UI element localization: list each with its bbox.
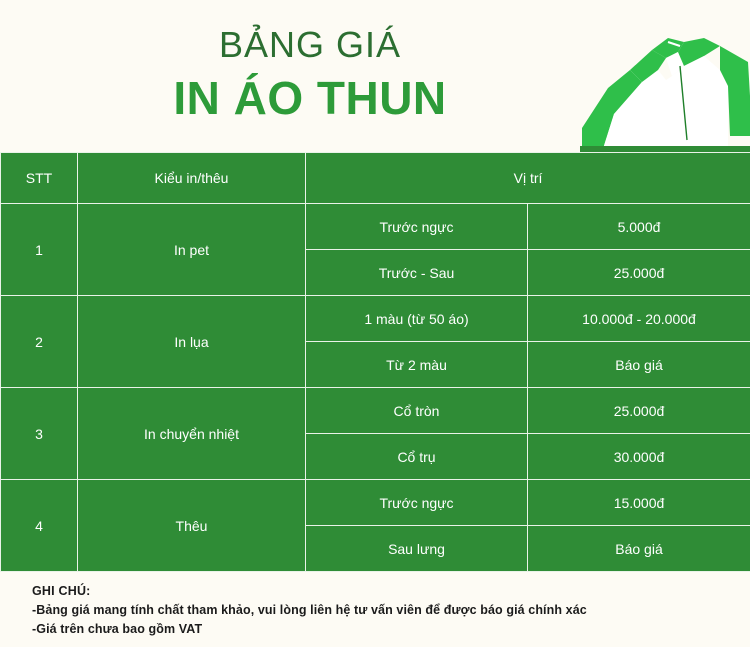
cell-position: Trước ngực — [306, 480, 528, 526]
cell-position: Trước ngực — [306, 204, 528, 250]
cell-position: Sau lưng — [306, 526, 528, 572]
cell-stt: 3 — [1, 388, 78, 480]
table-body: 1 In pet Trước ngực 5.000đ Trước - Sau 2… — [1, 204, 750, 572]
table-row: 2 In lụa 1 màu (từ 50 áo) 10.000đ - 20.0… — [1, 296, 750, 342]
cell-print-type: In lụa — [78, 296, 306, 388]
notes-line-1: -Bảng giá mang tính chất tham khảo, vui … — [32, 601, 750, 620]
cell-print-type: In chuyển nhiệt — [78, 388, 306, 480]
cell-price: 25.000đ — [528, 388, 750, 434]
table-row: 3 In chuyển nhiệt Cổ tròn 25.000đ — [1, 388, 750, 434]
column-header-kieu: Kiểu in/thêu — [78, 153, 306, 204]
price-table: STT Kiểu in/thêu Vị trí 1 In pet Trước n… — [0, 152, 750, 572]
cell-print-type: Thêu — [78, 480, 306, 572]
cell-price: 5.000đ — [528, 204, 750, 250]
notes-line-2: -Giá trên chưa bao gồm VAT — [32, 620, 750, 639]
notes-title: GHI CHÚ: — [32, 582, 750, 601]
cell-price: 10.000đ - 20.000đ — [528, 296, 750, 342]
table-row: 4 Thêu Trước ngực 15.000đ — [1, 480, 750, 526]
cell-print-type: In pet — [78, 204, 306, 296]
cell-position: Cổ tròn — [306, 388, 528, 434]
title-block: BẢNG GIÁ IN ÁO THUN — [0, 24, 620, 127]
cell-stt: 2 — [1, 296, 78, 388]
table-header: STT Kiểu in/thêu Vị trí — [1, 153, 750, 204]
polo-shirt-icon — [580, 36, 750, 152]
column-header-stt: STT — [1, 153, 78, 204]
cell-stt: 4 — [1, 480, 78, 572]
cell-price: Báo giá — [528, 342, 750, 388]
page-subtitle: IN ÁO THUN — [0, 71, 620, 126]
cell-position: Từ 2 màu — [306, 342, 528, 388]
cell-position: Cổ trụ — [306, 434, 528, 480]
table-header-row: STT Kiểu in/thêu Vị trí — [1, 153, 750, 204]
table-row: 1 In pet Trước ngực 5.000đ — [1, 204, 750, 250]
page-header: BẢNG GIÁ IN ÁO THUN — [0, 0, 750, 152]
cell-price: 25.000đ — [528, 250, 750, 296]
cell-price: Báo giá — [528, 526, 750, 572]
cell-position: Trước - Sau — [306, 250, 528, 296]
column-header-vitri: Vị trí — [306, 153, 750, 204]
page-title: BẢNG GIÁ — [0, 24, 620, 65]
cell-price: 15.000đ — [528, 480, 750, 526]
notes-section: GHI CHÚ: -Bảng giá mang tính chất tham k… — [0, 572, 750, 640]
cell-stt: 1 — [1, 204, 78, 296]
cell-price: 30.000đ — [528, 434, 750, 480]
cell-position: 1 màu (từ 50 áo) — [306, 296, 528, 342]
